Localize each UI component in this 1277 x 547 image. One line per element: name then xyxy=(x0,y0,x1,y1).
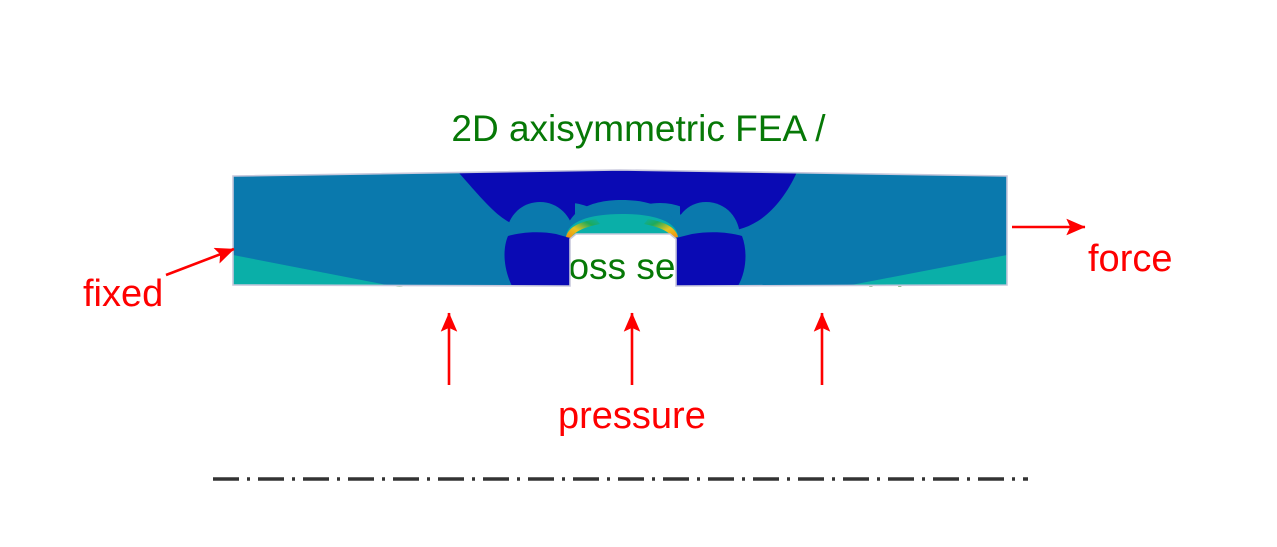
region-left-subgroove-pocket xyxy=(505,232,570,286)
fea-contour-regions xyxy=(225,160,1025,300)
force-label: force xyxy=(1088,237,1172,281)
fixed-arrow-icon xyxy=(166,249,234,275)
fea-figure xyxy=(0,0,1277,547)
pressure-label: pressure xyxy=(558,394,706,438)
figure-page: 2D axisymmetric FEA / longitudinal cross… xyxy=(0,0,1277,547)
fixed-label: fixed xyxy=(83,272,163,316)
region-right-subgroove-pocket xyxy=(676,232,745,286)
fea-contour-body xyxy=(225,160,1025,300)
